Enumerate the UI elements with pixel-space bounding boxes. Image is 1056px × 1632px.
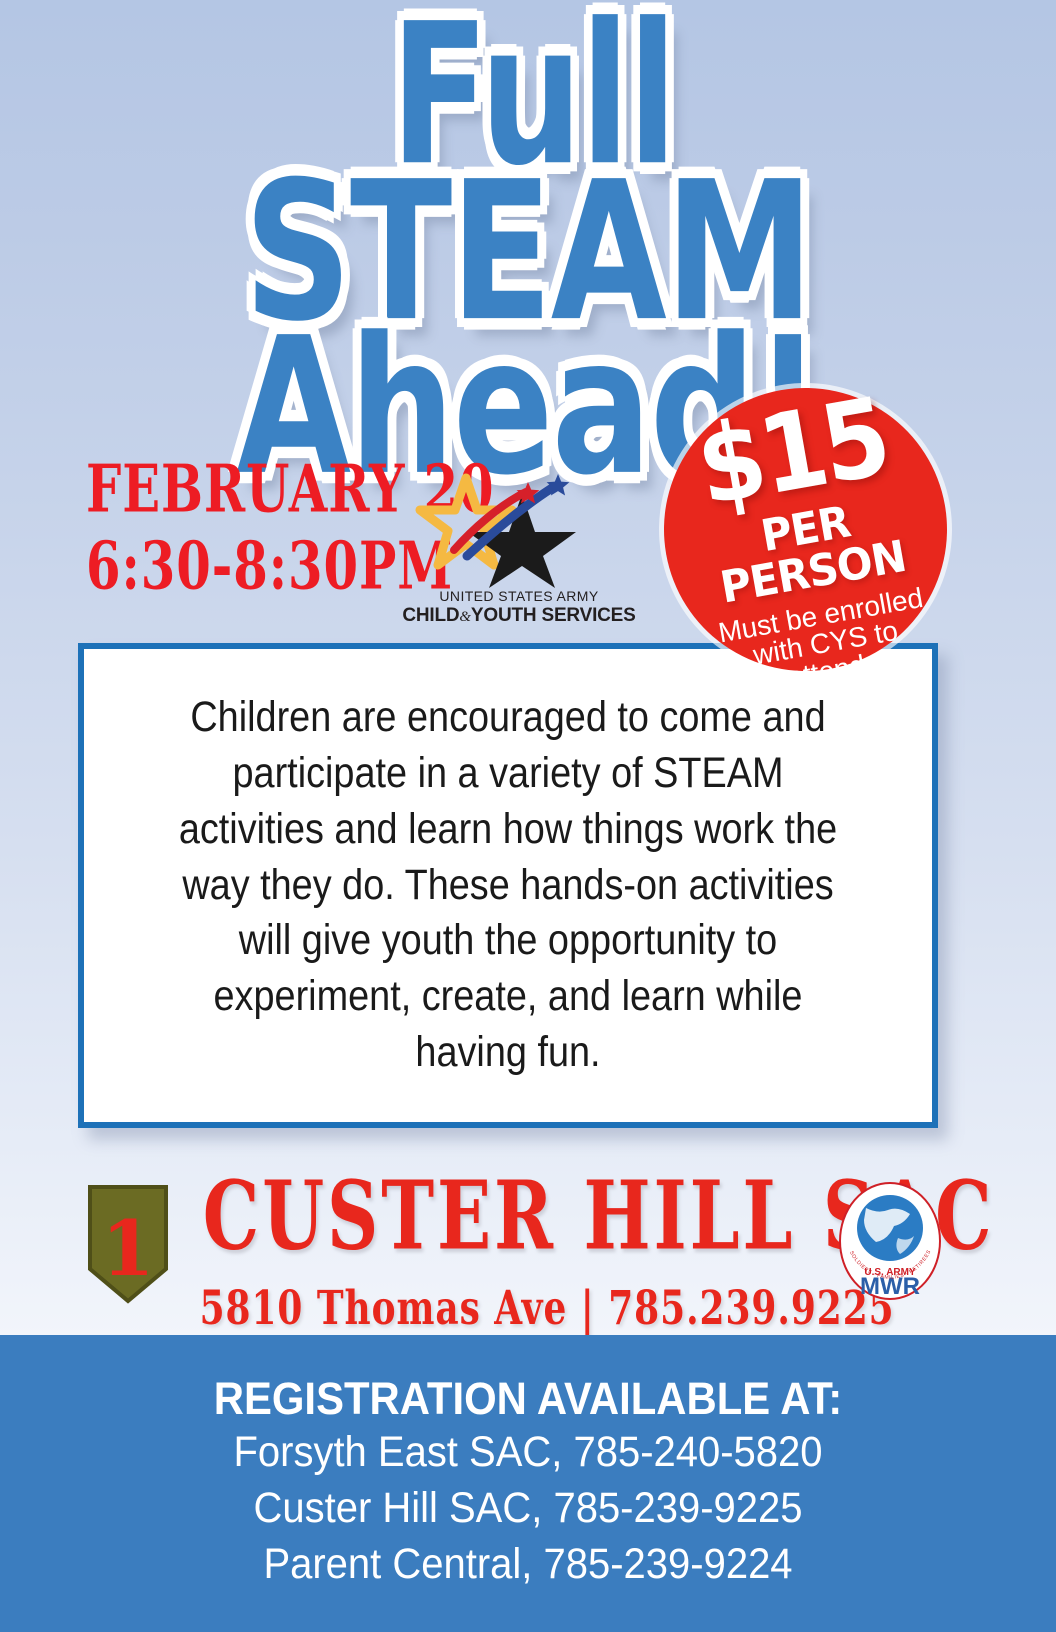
registration-option-1: Forsyth East SAC, 785-240-5820 — [37, 1427, 1019, 1478]
venue-address-phone: 5810 Thomas Ave | 785.239.9225 — [200, 1285, 821, 1332]
cys-logo: UNITED STATES ARMY CHILD&YOUTH SERVICES — [394, 470, 644, 630]
army-mwr-logo: U.S. ARMY MWR SOLDIERS · FAMILIES · RETI… — [836, 1180, 944, 1302]
registration-option-2: Custer Hill SAC, 785-239-9225 — [37, 1483, 1019, 1534]
svg-text:1: 1 — [102, 1204, 155, 1293]
venue-names: CUSTER HILL SAC 5810 Thomas Ave | 785.23… — [190, 1169, 830, 1322]
registration-option-3: Parent Central, 785-239-9224 — [37, 1539, 1019, 1590]
price-badge: $15 PER PERSON Must be enrolled with CYS… — [642, 366, 970, 694]
venue-name: CUSTER HILL SAC — [203, 1169, 817, 1264]
globe-icon — [857, 1195, 923, 1261]
description-box: Children are encouraged to come and part… — [78, 643, 938, 1128]
description-text: Children are encouraged to come and part… — [135, 690, 881, 1081]
registration-heading: REGISTRATION AVAILABLE AT: — [37, 1375, 1019, 1422]
cys-child: CHILD — [402, 605, 459, 626]
registration-footer: REGISTRATION AVAILABLE AT: Forsyth East … — [0, 1335, 1056, 1632]
price-badge-content: $15 PER PERSON Must be enrolled with CYS… — [642, 366, 973, 709]
cys-logo-text: UNITED STATES ARMY CHILD&YOUTH SERVICES — [394, 588, 644, 627]
cys-star-icon — [394, 470, 644, 588]
first-infantry-division-patch-icon: 1 — [84, 1183, 172, 1305]
cys-logo-line2: CHILD&YOUTH SERVICES — [394, 605, 644, 627]
cys-ampersand: & — [459, 609, 470, 625]
venue-block: 1 CUSTER HILL SAC 5810 Thomas Ave | 785.… — [0, 1165, 1056, 1330]
cys-logo-line1: UNITED STATES ARMY — [394, 588, 644, 604]
cys-youth-services: YOUTH SERVICES — [471, 605, 636, 626]
